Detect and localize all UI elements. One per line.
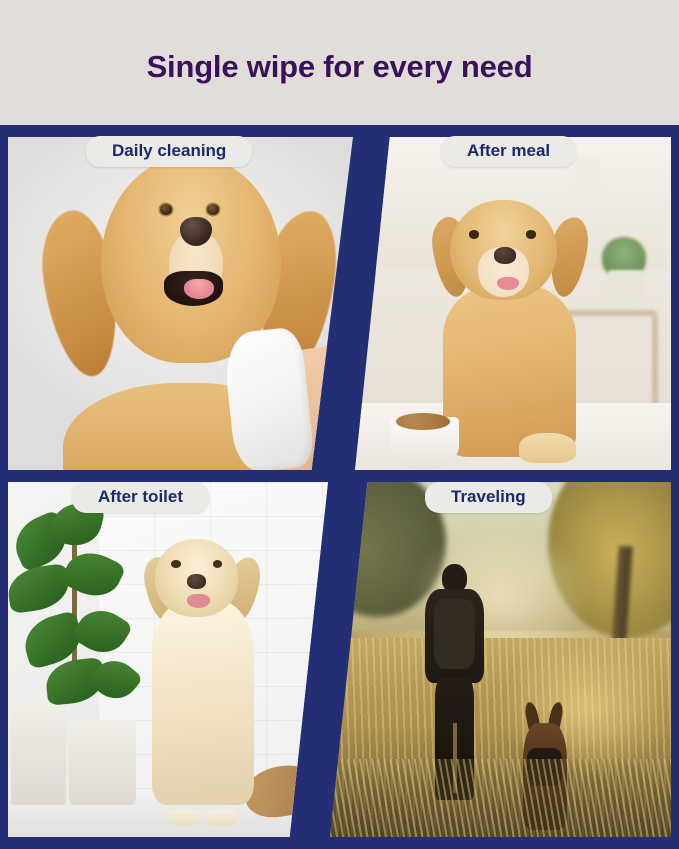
page-title: Single wipe for every need: [147, 49, 533, 85]
dog-eye-left: [160, 204, 172, 214]
dog-tongue: [187, 594, 209, 608]
plant-leaf: [8, 563, 71, 614]
dog-paw: [519, 433, 576, 463]
dog-eye-right: [207, 204, 219, 214]
kitchen-jar: [576, 157, 601, 200]
panel-daily-cleaning: [8, 137, 353, 470]
photo-after-toilet: [8, 482, 328, 837]
badge-after-toilet: After toilet: [72, 482, 209, 513]
hiker-head: [442, 564, 467, 592]
photo-daily-cleaning: [8, 137, 353, 470]
dog-food-kibble: [396, 413, 450, 430]
dog-paw-left: [168, 809, 200, 827]
badge-traveling: Traveling: [425, 482, 552, 513]
foreground-grass: [330, 759, 671, 837]
panel-after-meal: [355, 137, 671, 470]
badge-daily-cleaning: Daily cleaning: [86, 136, 252, 167]
dog-nose: [187, 574, 206, 589]
product-feature-graphic: Single wipe for every need: [0, 0, 679, 849]
badge-after-meal: After meal: [441, 136, 576, 167]
dog-body: [443, 284, 576, 457]
kitchen-plant-pot: [608, 270, 643, 297]
photo-after-meal: [355, 137, 671, 470]
panel-after-toilet: [8, 482, 328, 837]
planter-right: [69, 720, 136, 805]
backpack: [434, 599, 475, 669]
dog-body: [152, 599, 254, 805]
dog-paw-right: [206, 809, 238, 827]
panel-traveling: [330, 482, 671, 837]
planter-left: [11, 699, 65, 806]
dog-nose: [494, 247, 516, 264]
dog-eye-left: [171, 560, 181, 568]
photo-traveling: [330, 482, 671, 837]
wipe-tissue: [222, 326, 316, 470]
header-banner: Single wipe for every need: [0, 0, 679, 125]
dog-eye-right: [526, 230, 537, 239]
